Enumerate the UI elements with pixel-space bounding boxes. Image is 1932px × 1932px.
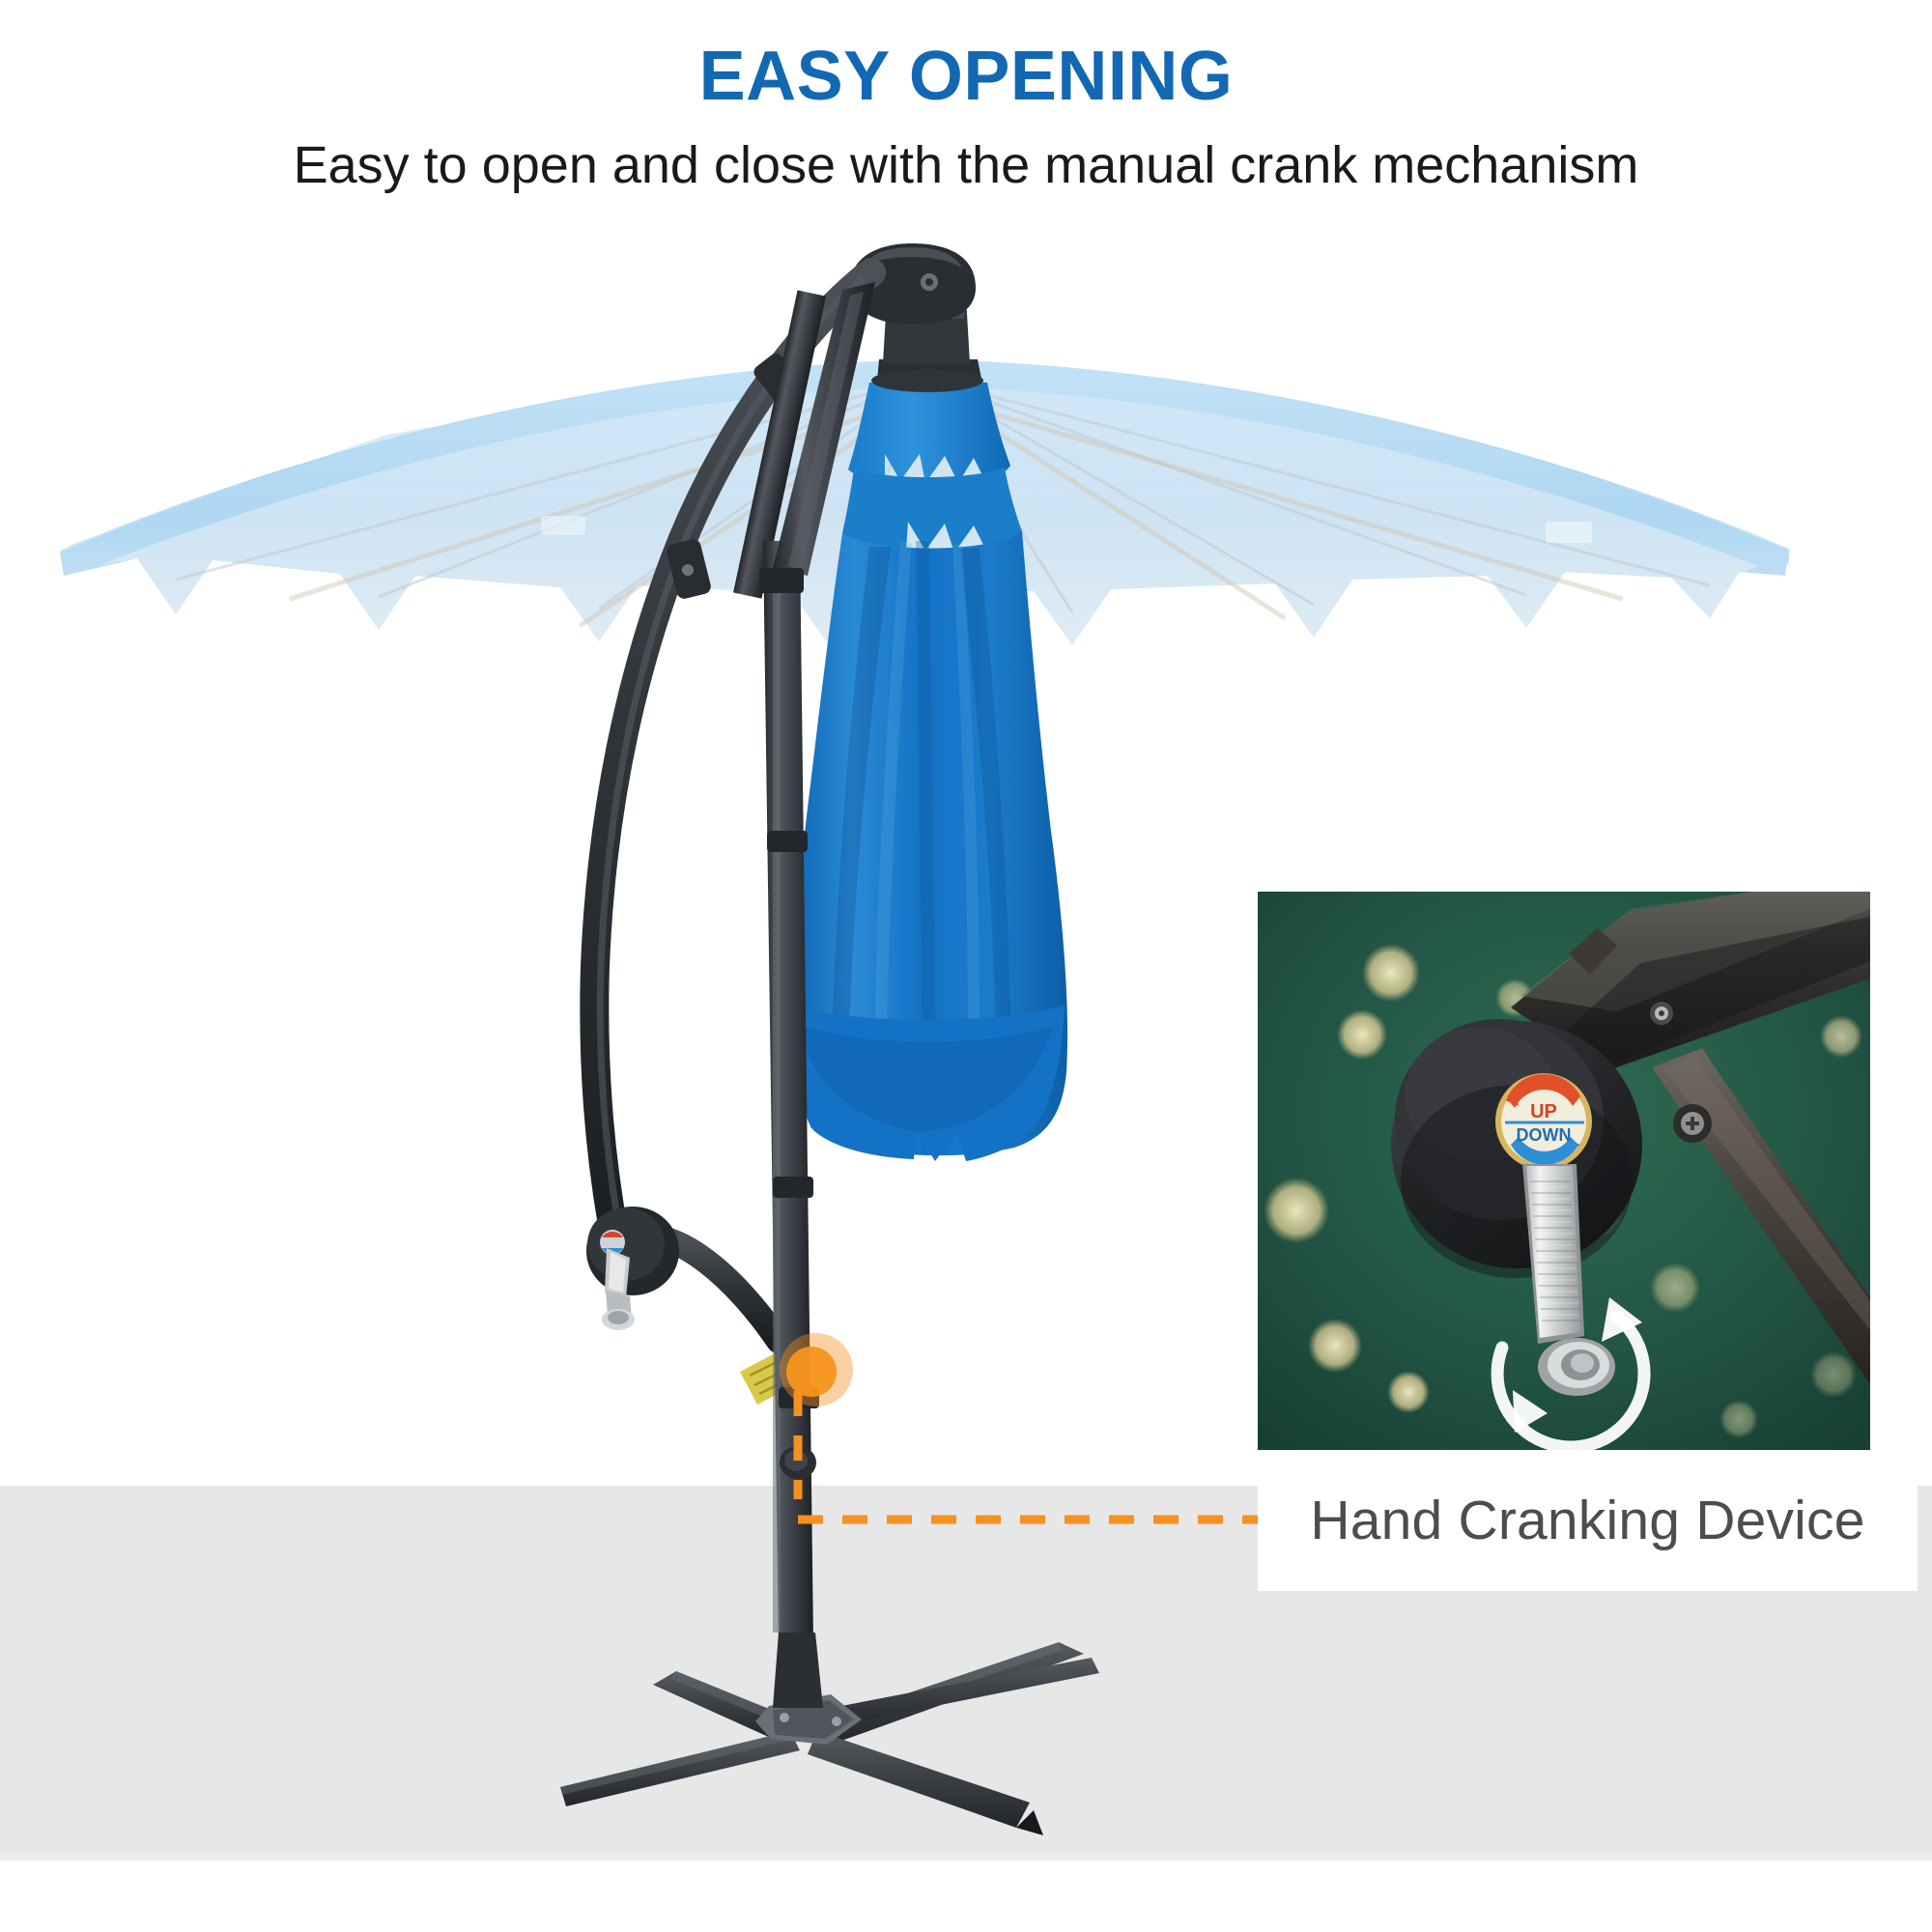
sticker-up-label: UP: [1530, 1101, 1557, 1122]
sticker-down-label: DOWN: [1517, 1125, 1572, 1145]
product-feature-image: EASY OPENING Easy to open and close with…: [0, 0, 1932, 1932]
cross-base: [560, 1633, 1099, 1835]
callout-label-box: Hand Cranking Device: [1258, 1450, 1918, 1591]
callout-label-text: Hand Cranking Device: [1310, 1489, 1864, 1552]
crank-closeup-photo: UP DOWN: [1258, 892, 1870, 1450]
inset-photo-panel: UP DOWN: [1258, 892, 1870, 1450]
up-down-sticker: UP DOWN: [1495, 1073, 1592, 1170]
